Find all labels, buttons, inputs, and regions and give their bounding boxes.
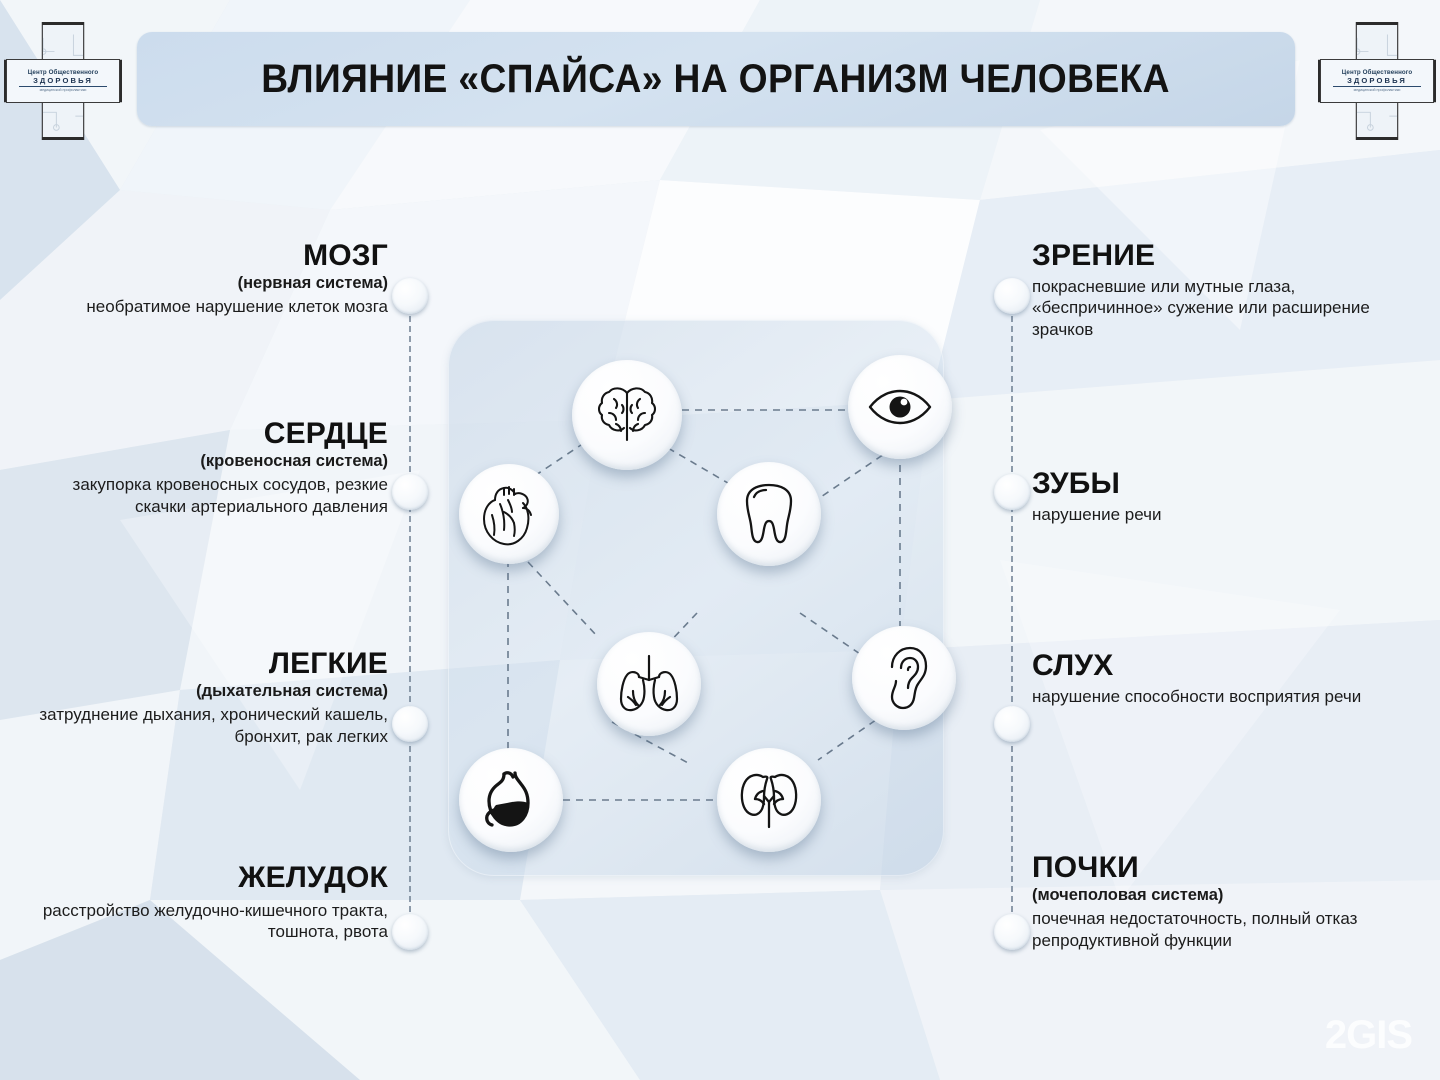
symptom-block-teeth: ЗУБЫ нарушение речи <box>1032 468 1384 525</box>
symptom-body: необратимое нарушение клеток мозга <box>20 296 388 317</box>
symptom-subtitle: (нервная система) <box>20 274 388 293</box>
ear-icon <box>880 645 928 711</box>
symptom-title: ПОЧКИ <box>1032 852 1384 884</box>
symptom-body: покрасневшие или мутные глаза, «беспричи… <box>1032 276 1384 340</box>
symptom-title: СЛУХ <box>1032 650 1384 682</box>
logo-line1: Центр Общественного <box>28 69 99 76</box>
logo-text-band: Центр Общественного ЗДОРОВЬЯ медицинской… <box>1320 59 1434 104</box>
node-kidneys[interactable] <box>717 748 821 852</box>
node-ear[interactable] <box>852 626 956 730</box>
symptom-body: нарушение способности восприятия речи <box>1032 686 1384 707</box>
page-title: ВЛИЯНИЕ «СПАЙСА» НА ОРГАНИЗМ ЧЕЛОВЕКА <box>262 57 1171 102</box>
logo-line3: медицинской профилактики <box>40 88 87 92</box>
lungs-icon <box>617 653 681 715</box>
node-eye[interactable] <box>848 355 952 459</box>
symptom-title: ЗУБЫ <box>1032 468 1384 500</box>
symptom-block-kidneys: ПОЧКИ (мочеполовая система) почечная нед… <box>1032 852 1384 951</box>
right-connector-dot-4 <box>994 914 1030 950</box>
symptom-block-hearing: СЛУХ нарушение способности восприятия ре… <box>1032 650 1384 707</box>
symptom-title: ЛЕГКИЕ <box>20 648 388 680</box>
kidneys-icon <box>737 769 801 831</box>
symptom-body: закупорка кровеносных сосудов, резкие ск… <box>20 474 388 517</box>
logo-text-band: Центр Общественного ЗДОРОВЬЯ медицинской… <box>6 59 120 104</box>
logo-line2: ЗДОРОВЬЯ <box>1347 76 1407 85</box>
node-heart[interactable] <box>459 464 559 564</box>
logo-badge-right: Центр Общественного ЗДОРОВЬЯ медицинской… <box>1318 22 1436 140</box>
symptom-body: нарушение речи <box>1032 504 1384 525</box>
left-rail <box>409 296 411 932</box>
node-tooth[interactable] <box>717 462 821 566</box>
right-connector-dot-3 <box>994 706 1030 742</box>
symptom-body: почечная недостаточность, полный отказ р… <box>1032 908 1384 951</box>
right-rail <box>1011 296 1013 932</box>
symptom-subtitle: (дыхательная система) <box>20 682 388 701</box>
logo-divider <box>19 86 108 87</box>
watermark-2gis: 2GIS <box>1325 1013 1412 1058</box>
symptom-block-brain: МОЗГ (нервная система) необратимое наруш… <box>20 240 388 318</box>
symptom-block-lungs: ЛЕГКИЕ (дыхательная система) затруднение… <box>20 648 388 747</box>
symptom-block-vision: ЗРЕНИЕ покрасневшие или мутные глаза, «б… <box>1032 240 1384 340</box>
brain-icon <box>594 385 660 445</box>
node-stomach[interactable] <box>459 748 563 852</box>
symptom-title: ЖЕЛУДОК <box>20 862 388 894</box>
right-connector-dot-2 <box>994 474 1030 510</box>
symptom-body: затруднение дыхания, хронический кашель,… <box>20 704 388 747</box>
logo-line1: Центр Общественного <box>1342 69 1413 76</box>
left-connector-dot-1 <box>392 278 428 314</box>
symptom-subtitle: (мочеполовая система) <box>1032 886 1384 905</box>
left-connector-dot-4 <box>392 914 428 950</box>
logo-badge-left: Центр Общественного ЗДОРОВЬЯ медицинской… <box>4 22 122 140</box>
symptom-body: расстройство желудочно-кишечного тракта,… <box>20 900 388 943</box>
right-connector-dot-1 <box>994 278 1030 314</box>
logo-line2: ЗДОРОВЬЯ <box>33 76 93 85</box>
node-brain[interactable] <box>572 360 682 470</box>
page-title-bar: ВЛИЯНИЕ «СПАЙСА» НА ОРГАНИЗМ ЧЕЛОВЕКА <box>137 32 1295 126</box>
tooth-icon <box>740 481 798 547</box>
heart-icon <box>478 482 540 546</box>
symptom-block-stomach: ЖЕЛУДОК расстройство желудочно-кишечного… <box>20 862 388 943</box>
eye-icon <box>867 387 933 427</box>
symptom-subtitle: (кровеносная система) <box>20 452 388 471</box>
left-connector-dot-3 <box>392 706 428 742</box>
node-lungs[interactable] <box>597 632 701 736</box>
symptom-title: ЗРЕНИЕ <box>1032 240 1384 272</box>
stomach-icon <box>480 768 542 832</box>
left-connector-dot-2 <box>392 474 428 510</box>
logo-line3: медицинской профилактики <box>1354 88 1401 92</box>
symptom-block-heart: СЕРДЦЕ (кровеносная система) закупорка к… <box>20 418 388 517</box>
logo-divider <box>1333 86 1422 87</box>
symptom-title: СЕРДЦЕ <box>20 418 388 450</box>
symptom-title: МОЗГ <box>20 240 388 272</box>
